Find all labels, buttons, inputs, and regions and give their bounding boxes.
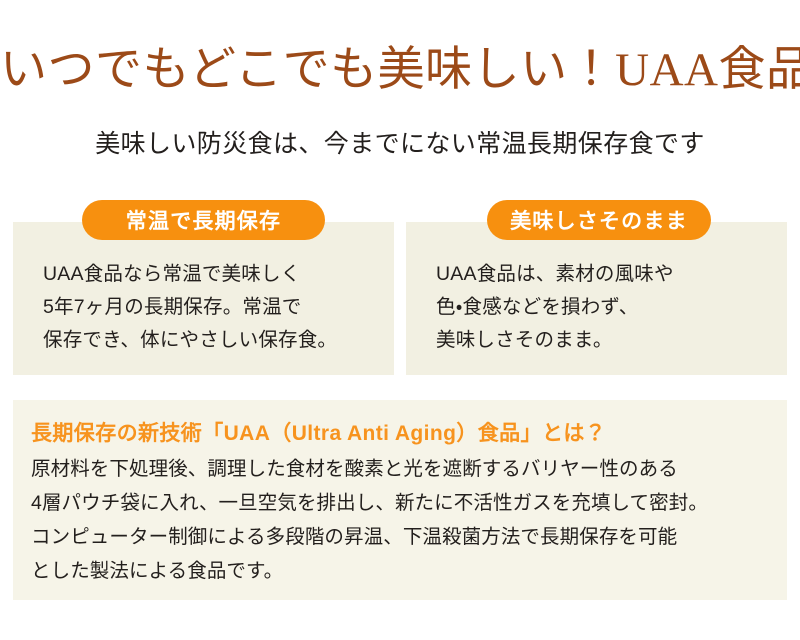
page-subtitle: 美味しい防災食は、今までにない常温長期保存食です [0, 126, 800, 164]
feature-panel-taste: UAA食品は、素材の風味や 色・食感などを損わず、 美味しさそのまま。 [406, 222, 787, 375]
feature-badge-taste: 美味しさそのまま [487, 200, 711, 240]
info-panel: 長期保存の新技術「UAA（Ultra Anti Aging）食品」とは？ 原材料… [13, 400, 787, 600]
feature-panel-storage: UAA食品なら常温で美味しく 5年7ヶ月の長期保存。常温で 保存でき、体にやさし… [13, 222, 394, 375]
page-title: いつでもどこでも美味しい！UAA食品 [0, 40, 800, 100]
feature-panel-group: UAA食品なら常温で美味しく 5年7ヶ月の長期保存。常温で 保存でき、体にやさし… [13, 222, 787, 375]
info-panel-body: 原材料を下処理後、調理した食材を酸素と光を遮断するバリヤー性のある 4層パウチ袋… [31, 452, 771, 588]
feature-badge-storage: 常温で長期保存 [82, 200, 325, 240]
feature-panel-storage-text: UAA食品なら常温で美味しく 5年7ヶ月の長期保存。常温で 保存でき、体にやさし… [43, 258, 376, 357]
feature-panel-taste-text: UAA食品は、素材の風味や 色・食感などを損わず、 美味しさそのまま。 [436, 258, 769, 357]
info-panel-heading: 長期保存の新技術「UAA（Ultra Anti Aging）食品」とは？ [31, 417, 606, 447]
